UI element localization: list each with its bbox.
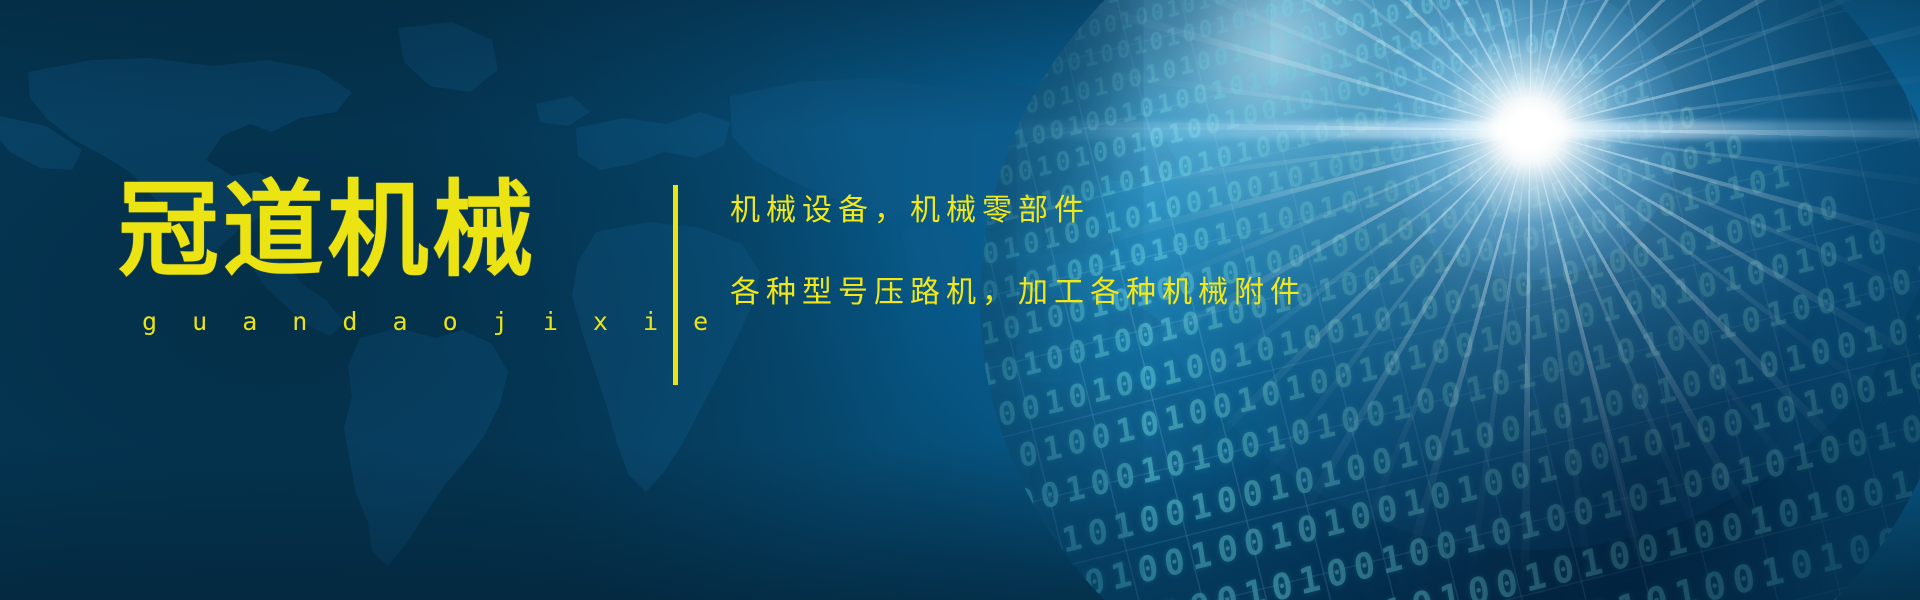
tagline-group: 机械设备，机械零部件 各种型号压路机，加工各种机械附件	[730, 196, 1306, 308]
hero-banner: 1001010010010100101001001010010100100101…	[0, 0, 1920, 600]
vertical-divider	[673, 185, 678, 385]
tagline-primary: 机械设备，机械零部件	[730, 196, 1306, 226]
company-name-chinese: 冠道机械	[118, 176, 525, 285]
tagline-secondary: 各种型号压路机，加工各种机械附件	[730, 278, 1306, 308]
logo-block: 冠道机械 g u a n d a o j i x i e	[118, 176, 538, 336]
company-name-pinyin: g u a n d a o j i x i e	[142, 307, 538, 336]
banner-content: 冠道机械 g u a n d a o j i x i e 机械设备，机械零部件 …	[0, 0, 1920, 600]
